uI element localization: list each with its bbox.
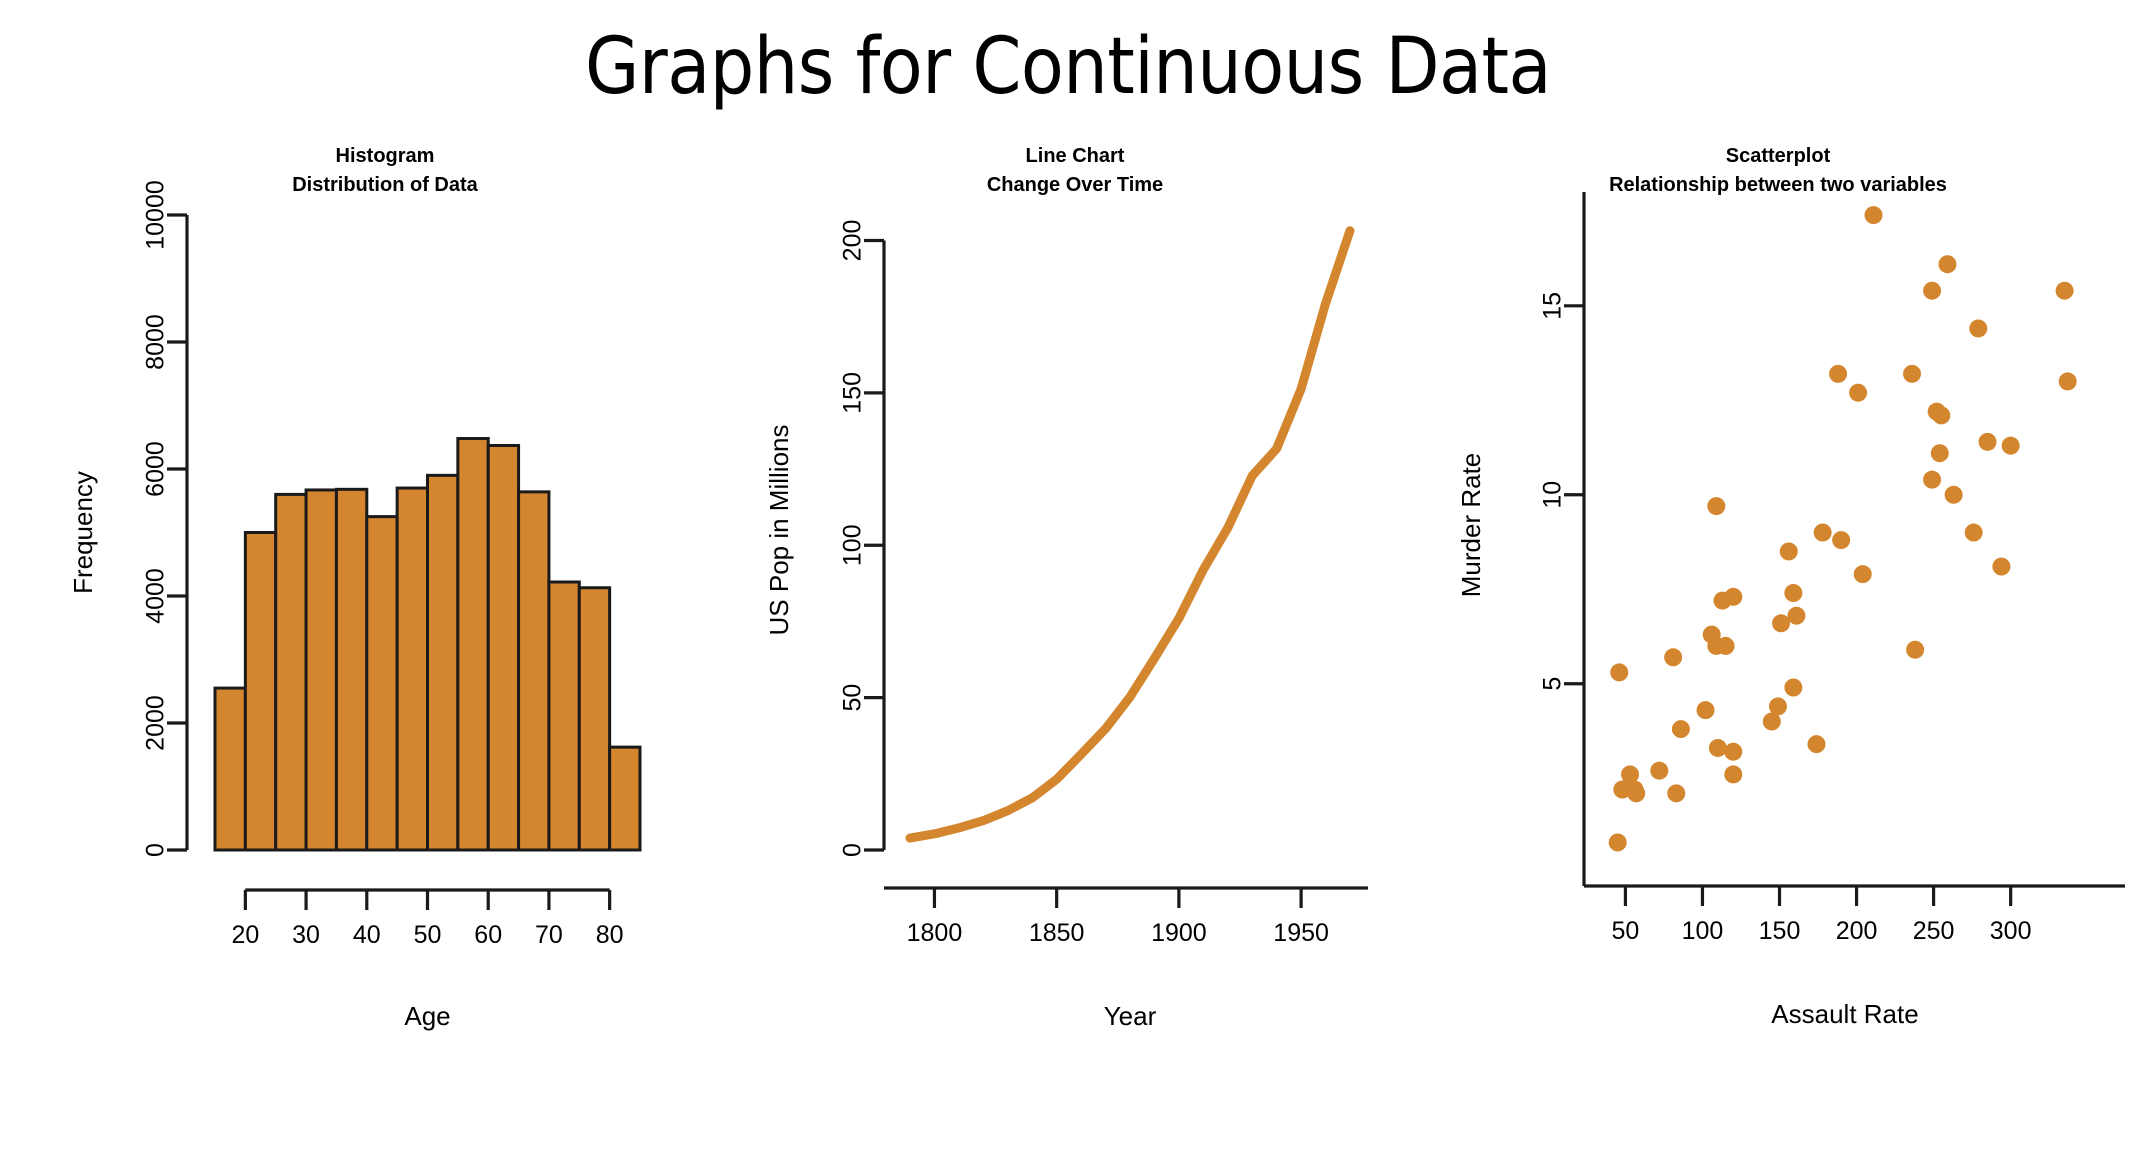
scatter-point (1945, 486, 1963, 504)
histogram-bar (519, 492, 549, 850)
x-tick-label: 60 (474, 921, 502, 949)
histogram-bar (215, 688, 245, 850)
scatter-point (1664, 648, 1682, 666)
scatter-point (1928, 403, 1946, 421)
y-tick-label: 10 (1539, 481, 1567, 509)
histogram-bar (610, 747, 640, 850)
scatter-point (2059, 372, 2077, 390)
scatter-point (1667, 784, 1685, 802)
y-tick-label: 0 (839, 843, 867, 857)
x-tick-label: 150 (1759, 917, 1801, 945)
histogram-y-axis: 0200040006000800010000 (142, 180, 187, 857)
scatter-point (1621, 765, 1639, 783)
scatter-point (1931, 444, 1949, 462)
scatter-point (1923, 282, 1941, 300)
x-tick-label: 40 (353, 921, 381, 949)
x-tick-label: 1850 (1029, 919, 1085, 947)
y-tick-label: 200 (839, 220, 867, 262)
x-tick-label: 300 (1990, 917, 2032, 945)
scatter-point (1807, 735, 1825, 753)
scatter-point (1784, 584, 1802, 602)
histogram-bar (458, 439, 488, 850)
y-tick-label: 2000 (142, 695, 170, 751)
histogram-bar (397, 488, 427, 850)
scatter-point (1772, 614, 1790, 632)
y-tick-label: 6000 (142, 441, 170, 497)
x-tick-label: 80 (596, 921, 624, 949)
scatter-point (1707, 497, 1725, 515)
x-tick-label: 200 (1836, 917, 1878, 945)
scatter-point (1672, 720, 1690, 738)
histogram-x-axis: 20304050607080 (231, 890, 623, 949)
scatter-y-axis: 51015 (1539, 192, 1584, 886)
histogram-plot: 020004000600080001000020304050607080AgeF… (40, 160, 730, 1120)
y-tick-label: 5 (1539, 677, 1567, 691)
panel-line: Line Chart Change Over Time 050100150200… (730, 160, 1420, 1160)
scatter-point (1709, 739, 1727, 757)
x-axis-title: Assault Rate (1771, 999, 1918, 1029)
line-chart-plot: 0501001502001800185019001950YearUS Pop i… (730, 160, 1420, 1120)
x-tick-label: 100 (1682, 917, 1724, 945)
scatter-point (2056, 282, 2074, 300)
scatter-point (1903, 365, 1921, 383)
scatter-point (1610, 663, 1628, 681)
histogram-bar (367, 517, 397, 850)
histogram-bar (549, 582, 579, 850)
histogram-bar (306, 490, 336, 850)
x-tick-label: 30 (292, 921, 320, 949)
y-tick-label: 100 (839, 524, 867, 566)
y-tick-label: 10000 (142, 180, 170, 250)
scatter-point (2002, 437, 2020, 455)
histogram-bar (488, 446, 518, 850)
x-tick-label: 1800 (907, 919, 963, 947)
histogram-bar (336, 489, 366, 850)
y-tick-label: 150 (839, 372, 867, 414)
line-y-axis: 050100150200 (839, 220, 884, 857)
scatter-point (1697, 701, 1715, 719)
y-tick-label: 15 (1539, 292, 1567, 320)
scatter-point (1780, 542, 1798, 560)
scatter-point (1854, 565, 1872, 583)
scatter-point (1969, 319, 1987, 337)
y-axis-title: Frequency (68, 471, 98, 594)
figure-canvas: Graphs for Continuous Data Histogram Dis… (0, 0, 2136, 1162)
x-tick-label: 70 (535, 921, 563, 949)
panel-scatter: Scatterplot Relationship between two var… (1420, 160, 2136, 1160)
line-x-axis: 1800185019001950 (884, 888, 1368, 947)
histogram-bars (215, 439, 640, 850)
scatter-point (1609, 833, 1627, 851)
scatter-point (1763, 713, 1781, 731)
scatter-point (1906, 641, 1924, 659)
x-tick-label: 50 (1612, 917, 1640, 945)
scatter-point (1724, 765, 1742, 783)
scatter-point (1923, 471, 1941, 489)
scatter-point (1849, 384, 1867, 402)
scatter-point (1787, 607, 1805, 625)
scatter-point (1865, 206, 1883, 224)
scatter-point (1829, 365, 1847, 383)
scatter-point (1992, 558, 2010, 576)
scatter-point (1832, 531, 1850, 549)
page-title: Graphs for Continuous Data (0, 28, 2136, 106)
x-tick-label: 1950 (1273, 919, 1329, 947)
scatter-point (1938, 255, 1956, 273)
scatter-point (1965, 524, 1983, 542)
histogram-bar (579, 588, 609, 850)
y-tick-label: 50 (839, 684, 867, 712)
x-tick-label: 1900 (1151, 919, 1207, 947)
scatter-point (1703, 626, 1721, 644)
y-tick-label: 4000 (142, 568, 170, 624)
scatter-point (1979, 433, 1997, 451)
scatter-point (1724, 588, 1742, 606)
histogram-bar (276, 494, 306, 850)
x-axis-title: Age (404, 1001, 450, 1031)
scatterplot-plot: 5101550100150200250300Assault RateMurder… (1420, 160, 2136, 1120)
y-tick-label: 0 (142, 843, 170, 857)
population-line (910, 231, 1350, 838)
scatter-point (1650, 762, 1668, 780)
y-tick-label: 8000 (142, 314, 170, 370)
histogram-bar (428, 475, 458, 850)
scatter-points (1609, 206, 2077, 851)
scatter-point (1724, 743, 1742, 761)
scatter-point (1814, 524, 1832, 542)
y-axis-title: US Pop in Millions (764, 425, 794, 636)
x-axis-title: Year (1104, 1001, 1157, 1031)
scatter-x-axis: 50100150200250300 (1584, 886, 2125, 945)
x-tick-label: 50 (414, 921, 442, 949)
x-tick-label: 20 (231, 921, 259, 949)
histogram-bar (245, 533, 275, 851)
scatter-point (1784, 679, 1802, 697)
y-axis-title: Murder Rate (1456, 453, 1486, 598)
x-tick-label: 250 (1913, 917, 1955, 945)
panel-histogram: Histogram Distribution of Data 020004000… (40, 160, 730, 1160)
